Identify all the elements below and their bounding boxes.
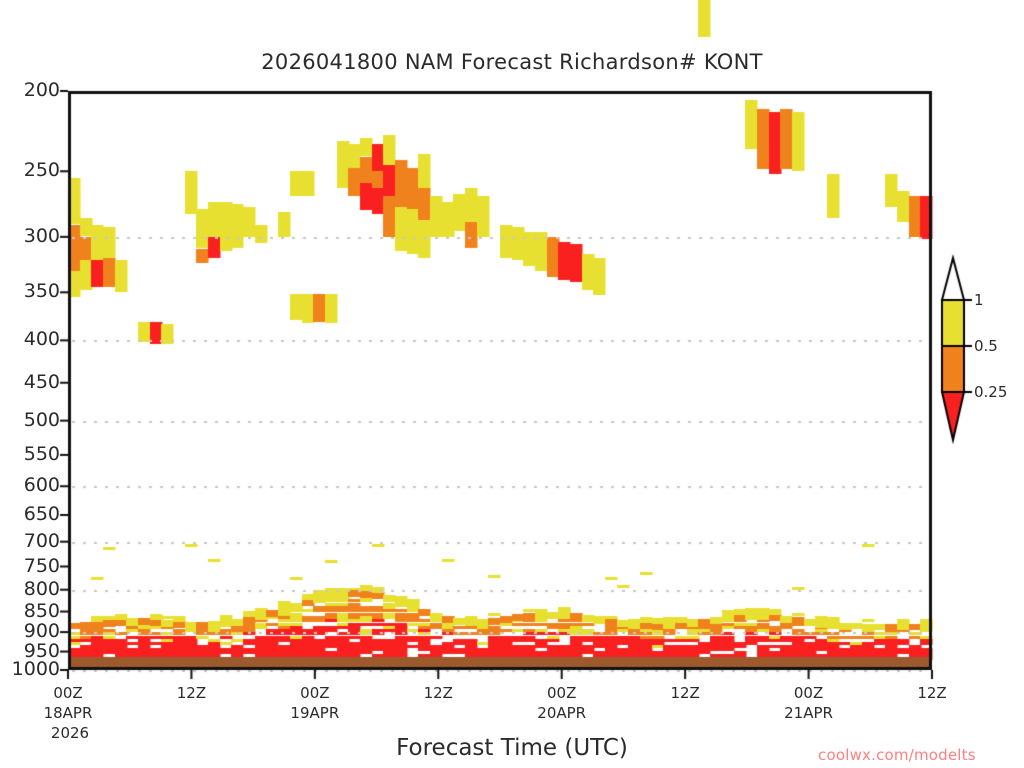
watermark-credit[interactable]: coolwx.com/modelts [818, 746, 976, 764]
x-tick-time-4: 00Z [522, 684, 602, 702]
x-tick-date-2: 19APR [275, 704, 355, 722]
x-tick-time-0: 00Z [28, 684, 108, 702]
y-tick-350: 350 [2, 280, 60, 302]
x-tick-date-6: 21APR [769, 704, 849, 722]
x-tick-time-2: 00Z [275, 684, 355, 702]
y-tick-700: 700 [2, 530, 60, 552]
y-tick-600: 600 [2, 474, 60, 496]
x-tick-time-3: 12Z [398, 684, 478, 702]
x-tick-date-0: 18APR [28, 704, 108, 722]
y-tick-250: 250 [2, 159, 60, 181]
y-tick-400: 400 [2, 328, 60, 350]
colorbar-label-0.25: 0.25 [974, 383, 1007, 401]
page-title: 2026041800 NAM Forecast Richardson# KONT [0, 50, 1024, 74]
x-axis-year-label: 2026 [30, 724, 110, 742]
y-tick-300: 300 [2, 225, 60, 247]
y-tick-200: 200 [2, 79, 60, 101]
y-tick-550: 550 [2, 443, 60, 465]
y-tick-800: 800 [2, 578, 60, 600]
y-tick-650: 650 [2, 503, 60, 525]
x-tick-date-4: 20APR [522, 704, 602, 722]
x-tick-time-7: 12Z [892, 684, 972, 702]
chart-container: 2026041800 NAM Forecast Richardson# KONT… [0, 0, 1024, 768]
x-tick-time-5: 12Z [645, 684, 725, 702]
y-tick-1000: 1000 [2, 658, 60, 680]
y-tick-850: 850 [2, 600, 60, 622]
y-tick-450: 450 [2, 371, 60, 393]
colorbar-label-1: 1 [974, 291, 984, 309]
y-tick-500: 500 [2, 409, 60, 431]
colorbar-label-0.5: 0.5 [974, 337, 998, 355]
richardson-number-timeheight-plot[interactable] [0, 0, 1024, 768]
y-tick-750: 750 [2, 555, 60, 577]
x-tick-time-1: 12Z [151, 684, 231, 702]
x-tick-time-6: 00Z [769, 684, 849, 702]
